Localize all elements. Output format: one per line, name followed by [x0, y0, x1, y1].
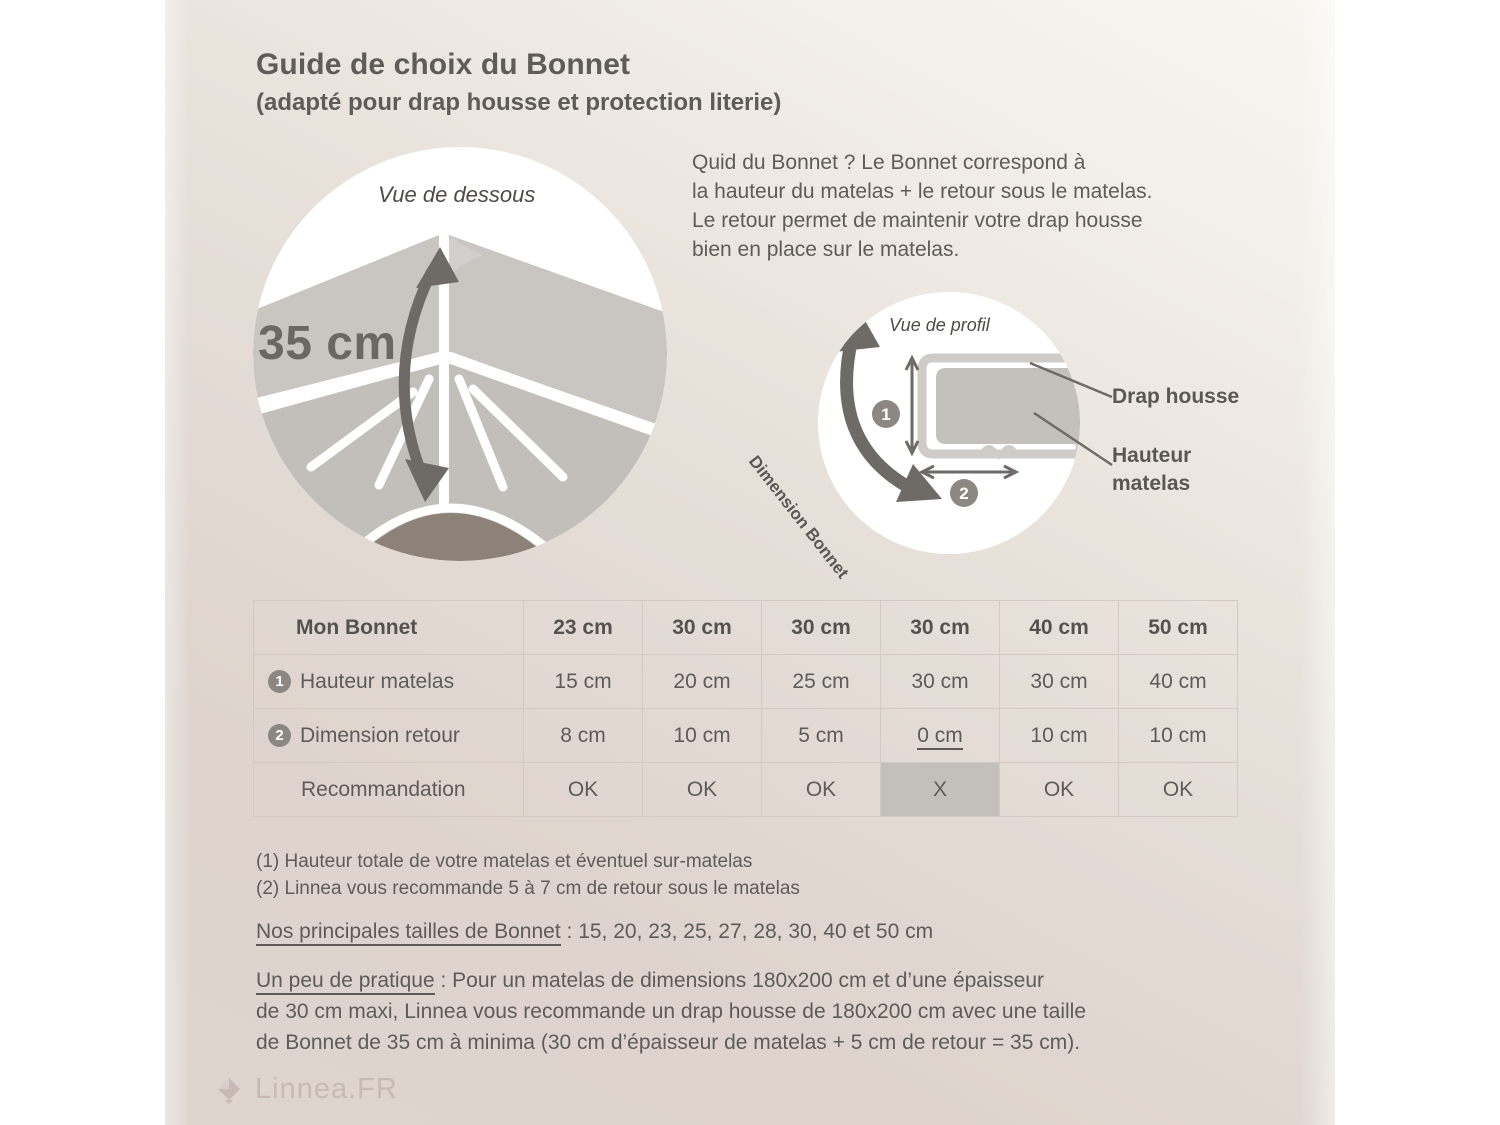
- cell-hauteur-0: 15 cm: [524, 655, 643, 709]
- table-label-retour-text: Dimension retour: [300, 724, 460, 748]
- practice-paragraph: Un peu de pratique : Pour un matelas de …: [256, 965, 1256, 1058]
- table-label-hauteur-text: Hauteur matelas: [300, 670, 454, 694]
- cell-retour-3-text: 0 cm: [917, 724, 963, 750]
- table-label-retour: 2 Dimension retour: [254, 709, 524, 763]
- height-dimension-arrow: [906, 358, 918, 453]
- practice-line-3: de Bonnet de 35 cm à minima (30 cm d’épa…: [256, 1027, 1256, 1058]
- title-line-2: (adapté pour drap housse et protection l…: [256, 86, 1156, 120]
- cell-bonnet-2: 30 cm: [762, 601, 881, 655]
- cell-reco-2: OK: [762, 763, 881, 817]
- table-row-bonnet: Mon Bonnet 23 cm 30 cm 30 cm 30 cm 40 cm…: [254, 601, 1238, 655]
- bonnet-measure-value: 35 cm: [258, 316, 397, 371]
- table-label-reco: Recommandation: [254, 763, 524, 817]
- cell-retour-0: 8 cm: [524, 709, 643, 763]
- linnea-logo-text: Linnea.FR: [255, 1073, 398, 1106]
- linnea-diamond-icon: [214, 1076, 244, 1104]
- sizes-rest: : 15, 20, 23, 25, 27, 28, 30, 40 et 50 c…: [561, 920, 933, 943]
- cell-retour-5: 10 cm: [1119, 709, 1238, 763]
- table-label-reco-text: Recommandation: [301, 778, 466, 802]
- callout-drap-housse: Drap housse: [1112, 383, 1239, 411]
- linnea-logo[interactable]: Linnea.FR: [214, 1073, 398, 1106]
- cell-reco-5: OK: [1119, 763, 1238, 817]
- practice-line-1: Un peu de pratique : Pour un matelas de …: [256, 965, 1256, 996]
- badge-2-table: 2: [268, 724, 291, 747]
- cell-retour-2: 5 cm: [762, 709, 881, 763]
- sizes-lead: Nos principales tailles de Bonnet: [256, 920, 561, 946]
- bonnet-size-table: Mon Bonnet 23 cm 30 cm 30 cm 30 cm 40 cm…: [253, 600, 1237, 817]
- footnote-1: (1) Hauteur totale de votre matelas et é…: [256, 848, 752, 875]
- sizes-paragraph: Nos principales tailles de Bonnet : 15, …: [256, 918, 933, 945]
- cell-retour-1: 10 cm: [643, 709, 762, 763]
- cell-bonnet-5: 50 cm: [1119, 601, 1238, 655]
- cell-reco-0: OK: [524, 763, 643, 817]
- intro-paragraph: Quid du Bonnet ? Le Bonnet correspond à …: [692, 148, 1272, 264]
- practice-line-1-rest: : Pour un matelas de dimensions 180x200 …: [435, 969, 1044, 992]
- table-row-hauteur: 1 Hauteur matelas 15 cm 20 cm 25 cm 30 c…: [254, 655, 1238, 709]
- background-right-fade: [1300, 0, 1370, 1125]
- callout-hauteur-matelas: Hauteur matelas: [1112, 442, 1191, 498]
- cell-reco-3: X: [881, 763, 1000, 817]
- bottom-view-label: Vue de dessous: [378, 182, 535, 208]
- cell-retour-4: 10 cm: [1000, 709, 1119, 763]
- badge-1-table: 1: [268, 670, 291, 693]
- table-header-label: Mon Bonnet: [254, 601, 524, 655]
- table-row-retour: 2 Dimension retour 8 cm 10 cm 5 cm 0 cm …: [254, 709, 1238, 763]
- intro-line-2: la hauteur du matelas + le retour sous l…: [692, 177, 1272, 206]
- profile-view-label: Vue de profil: [889, 315, 990, 336]
- cell-hauteur-4: 30 cm: [1000, 655, 1119, 709]
- background-left-fade: [130, 0, 190, 1125]
- title-line-1: Guide de choix du Bonnet: [256, 46, 1156, 84]
- table-label-hauteur: 1 Hauteur matelas: [254, 655, 524, 709]
- page-title: Guide de choix du Bonnet (adapté pour dr…: [256, 46, 1156, 120]
- practice-lead: Un peu de pratique: [256, 969, 435, 995]
- intro-line-4: bien en place sur le matelas.: [692, 235, 1272, 264]
- badge-2-profile: 2: [950, 479, 978, 507]
- table-row-reco: Recommandation OK OK OK X OK OK: [254, 763, 1238, 817]
- footnote-2: (2) Linnea vous recommande 5 à 7 cm de r…: [256, 875, 800, 902]
- cell-bonnet-4: 40 cm: [1000, 601, 1119, 655]
- badge-1-profile: 1: [872, 400, 900, 428]
- cell-bonnet-1: 30 cm: [643, 601, 762, 655]
- intro-line-3: Le retour permet de maintenir votre drap…: [692, 206, 1272, 235]
- cell-reco-1: OK: [643, 763, 762, 817]
- cell-bonnet-3: 30 cm: [881, 601, 1000, 655]
- return-dimension-arrow: [922, 466, 1016, 478]
- intro-line-1: Quid du Bonnet ? Le Bonnet correspond à: [692, 148, 1272, 177]
- infographic-canvas: Guide de choix du Bonnet (adapté pour dr…: [0, 0, 1500, 1125]
- cell-bonnet-0: 23 cm: [524, 601, 643, 655]
- practice-line-2: de 30 cm maxi, Linnea vous recommande un…: [256, 996, 1256, 1027]
- cell-hauteur-2: 25 cm: [762, 655, 881, 709]
- callout-hauteur-line-2: matelas: [1112, 470, 1191, 498]
- cell-reco-4: OK: [1000, 763, 1119, 817]
- cell-hauteur-1: 20 cm: [643, 655, 762, 709]
- cell-hauteur-5: 40 cm: [1119, 655, 1238, 709]
- callout-hauteur-line-1: Hauteur: [1112, 442, 1191, 470]
- cell-hauteur-3: 30 cm: [881, 655, 1000, 709]
- cell-retour-3: 0 cm: [881, 709, 1000, 763]
